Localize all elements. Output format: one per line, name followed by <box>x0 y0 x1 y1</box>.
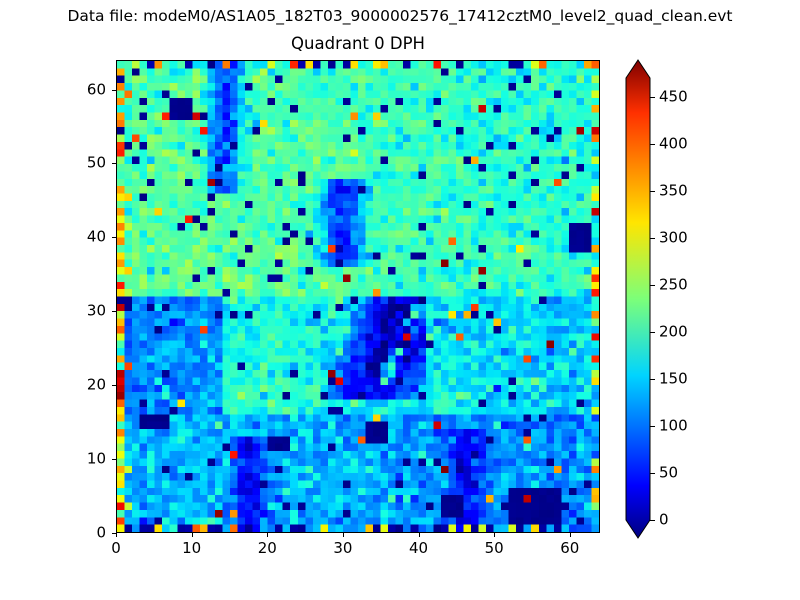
colorbar-tick-mark <box>650 285 655 286</box>
y-tick-mark <box>112 311 116 312</box>
colorbar-tick-label: 250 <box>659 276 688 293</box>
y-tick-mark <box>112 385 116 386</box>
colorbar-tick-mark <box>650 473 655 474</box>
colorbar-tick-mark <box>650 520 655 521</box>
colorbar-tick-mark <box>650 379 655 380</box>
colorbar-tick-label: 50 <box>659 464 678 481</box>
colorbar-tick-mark <box>650 191 655 192</box>
colorbar-tick-label: 300 <box>659 229 688 246</box>
x-tick-label: 10 <box>182 540 201 557</box>
y-tick-mark <box>112 163 116 164</box>
x-tick-mark <box>267 533 268 537</box>
colorbar-tick-label: 0 <box>659 512 669 529</box>
colorbar-tick-label: 150 <box>659 370 688 387</box>
y-tick-mark <box>112 90 116 91</box>
colorbar-tick-mark <box>650 238 655 239</box>
x-tick-label: 30 <box>333 540 352 557</box>
colorbar-tick-label: 100 <box>659 417 688 434</box>
x-tick-mark <box>116 533 117 537</box>
x-tick-mark <box>419 533 420 537</box>
colorbar-tick-label: 400 <box>659 135 688 152</box>
y-tick-mark <box>112 459 116 460</box>
colorbar-body <box>626 60 650 538</box>
y-tick-label: 40 <box>54 229 106 246</box>
page-title: Quadrant 0 DPH <box>116 33 600 55</box>
y-tick-label: 30 <box>54 303 106 320</box>
x-tick-label: 60 <box>560 540 579 557</box>
colorbar-tick-mark <box>650 144 655 145</box>
colorbar-tick-mark <box>650 332 655 333</box>
colorbar-tick-label: 200 <box>659 323 688 340</box>
y-tick-label: 50 <box>54 155 106 172</box>
x-tick-label: 50 <box>485 540 504 557</box>
x-tick-mark <box>494 533 495 537</box>
heatmap-image[interactable] <box>117 61 599 532</box>
x-tick-label: 0 <box>111 540 121 557</box>
y-tick-label: 0 <box>54 525 106 542</box>
y-tick-mark <box>112 237 116 238</box>
colorbar-tick-mark <box>650 426 655 427</box>
colorbar-gradient <box>626 60 650 538</box>
colorbar-tick-label: 450 <box>659 88 688 105</box>
x-tick-label: 40 <box>409 540 428 557</box>
y-tick-label: 20 <box>54 377 106 394</box>
x-tick-mark <box>192 533 193 537</box>
x-tick-label: 20 <box>258 540 277 557</box>
colorbar[interactable] <box>626 60 650 538</box>
y-tick-label: 60 <box>54 81 106 98</box>
figure-suptitle: Data file: modeM0/AS1A05_182T03_90000025… <box>0 6 800 26</box>
colorbar-tick-label: 350 <box>659 182 688 199</box>
x-tick-mark <box>343 533 344 537</box>
figure-canvas: Data file: modeM0/AS1A05_182T03_90000025… <box>0 0 800 600</box>
x-tick-mark <box>570 533 571 537</box>
y-tick-label: 10 <box>54 451 106 468</box>
colorbar-tick-mark <box>650 97 655 98</box>
heatmap-axes[interactable] <box>116 60 600 533</box>
y-tick-mark <box>112 533 116 534</box>
